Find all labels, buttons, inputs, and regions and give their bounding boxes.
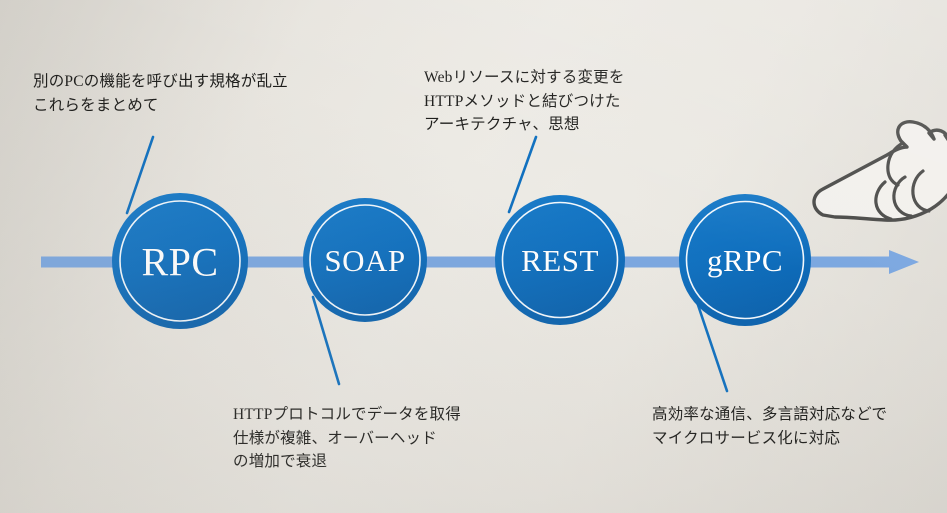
- callout-grpc-text: 高効率な通信、多言語対応などで マイクロサービス化に対応: [652, 403, 887, 450]
- callout-soap-text: HTTPプロトコルでデータを取得 仕様が複雑、オーバーヘッド の増加で衰退: [233, 403, 461, 474]
- callout-rpc-text: 別のPCの機能を呼び出す規格が乱立 これらをまとめて: [33, 70, 288, 117]
- slide-canvas: RPC SOAP REST gRPC 別のPCの機能を呼び出す規格が乱立 これら…: [0, 0, 947, 513]
- callout-rest-text: Webリソースに対する変更を HTTPメソッドと結びつけた アーキテクチャ、思想: [424, 66, 625, 137]
- text-layer: RPC SOAP REST gRPC 別のPCの機能を呼び出す規格が乱立 これら…: [0, 0, 947, 513]
- node-label-rest: REST: [521, 243, 599, 279]
- node-label-grpc: gRPC: [707, 243, 783, 279]
- node-label-soap: SOAP: [324, 243, 405, 279]
- node-label-rpc: RPC: [141, 239, 218, 286]
